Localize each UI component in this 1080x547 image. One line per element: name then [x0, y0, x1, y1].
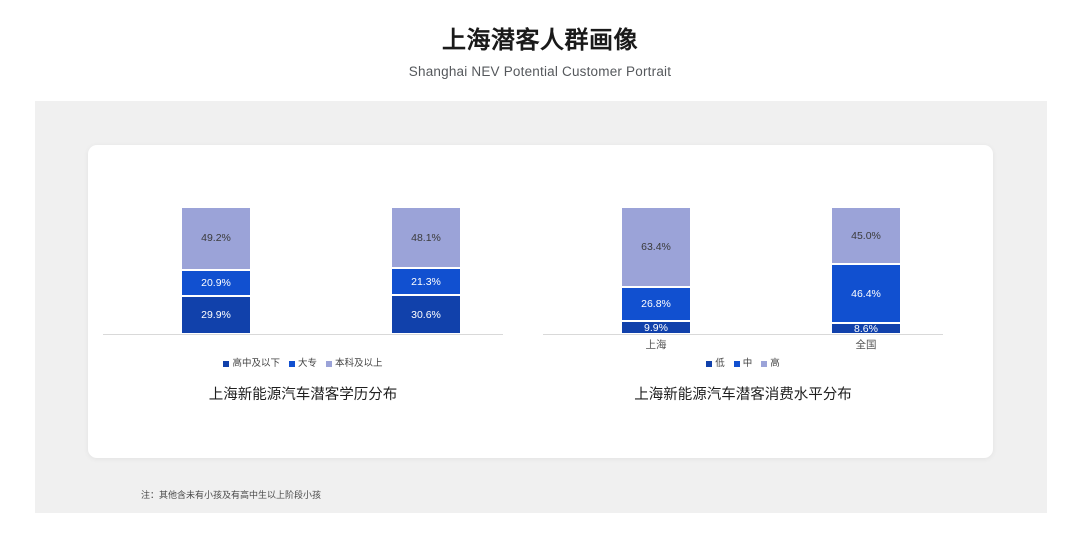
x-axis-line [543, 334, 943, 335]
bar-segment-label: 49.2% [201, 232, 231, 244]
legend-item[interactable]: 中 [734, 358, 753, 370]
chart-caption: 上海新能源汽车潜客学历分布 [103, 385, 503, 405]
legend-item[interactable]: 本科及以上 [326, 358, 383, 370]
bar-segment-label: 30.6% [411, 309, 441, 321]
legend-label: 本科及以上 [335, 358, 383, 370]
legend-label: 高 [770, 358, 780, 370]
stacked-bar[interactable]: 48.1%21.3%30.6% [391, 207, 461, 334]
bar-segment-label: 9.9% [644, 322, 668, 334]
chart-education-distribution: 49.2%20.9%29.9% 48.1%21.3%30.6% 高中及以下大专本… [103, 145, 503, 415]
page-header: 上海潜客人群画像 Shanghai NEV Potential Customer… [0, 0, 1080, 80]
chart-caption: 上海新能源汽车潜客消费水平分布 [543, 385, 943, 405]
bar-segment[interactable]: 46.4% [831, 264, 901, 323]
bar-segment-label: 8.6% [854, 323, 878, 334]
bar-segment-label: 45.0% [851, 230, 881, 242]
bar-segment[interactable]: 9.9% [621, 321, 691, 334]
legend-swatch-icon [289, 361, 295, 367]
chart-consumption-level-distribution: 63.4%26.8%9.9% 45.0%46.4%8.6% 上海 全国 低中高 … [543, 145, 943, 415]
stacked-bar[interactable]: 45.0%46.4%8.6% [831, 207, 901, 334]
bar-segment[interactable]: 63.4% [621, 207, 691, 288]
bar-segment-label: 26.8% [641, 298, 671, 310]
legend-swatch-icon [223, 361, 229, 367]
legend-label: 中 [743, 358, 753, 370]
bar-segment[interactable]: 30.6% [391, 295, 461, 334]
chart-plot-area: 49.2%20.9%29.9% 48.1%21.3%30.6% [103, 145, 503, 335]
page-title: 上海潜客人群画像 [0, 0, 1080, 56]
bar-segment[interactable]: 49.2% [181, 207, 251, 269]
legend-item[interactable]: 大专 [289, 358, 317, 370]
stacked-bar[interactable]: 63.4%26.8%9.9% [621, 207, 691, 334]
legend-swatch-icon [761, 361, 767, 367]
slide-panel: 49.2%20.9%29.9% 48.1%21.3%30.6% 高中及以下大专本… [35, 101, 1047, 513]
bar-segment[interactable]: 20.9% [181, 270, 251, 297]
legend-swatch-icon [706, 361, 712, 367]
legend-item[interactable]: 高 [761, 358, 780, 370]
chart-plot-area: 63.4%26.8%9.9% 45.0%46.4%8.6% [543, 145, 943, 335]
bar-segment-label: 29.9% [201, 309, 231, 321]
chart-legend: 低中高 [543, 358, 943, 370]
legend-label: 高中及以下 [232, 358, 280, 370]
legend-swatch-icon [734, 361, 740, 367]
x-axis-categories: 上海 全国 [543, 336, 943, 354]
bar-segment[interactable]: 8.6% [831, 323, 901, 334]
x-axis-tick-label: 上海 [621, 338, 691, 352]
legend-item[interactable]: 高中及以下 [223, 358, 280, 370]
page-subtitle: Shanghai NEV Potential Customer Portrait [0, 56, 1080, 80]
x-axis-categories [103, 336, 503, 354]
stacked-bar[interactable]: 49.2%20.9%29.9% [181, 207, 251, 334]
bar-segment[interactable]: 26.8% [621, 287, 691, 321]
legend-swatch-icon [326, 361, 332, 367]
x-axis-line [103, 334, 503, 335]
bar-segment-label: 48.1% [411, 232, 441, 244]
bar-segment[interactable]: 48.1% [391, 207, 461, 268]
bar-segment[interactable]: 45.0% [831, 207, 901, 264]
footnote: 注：其他含未有小孩及有高中生以上阶段小孩 [141, 489, 321, 501]
legend-item[interactable]: 低 [706, 358, 725, 370]
x-axis-tick-label: 全国 [831, 338, 901, 352]
bar-segment-label: 46.4% [851, 288, 881, 300]
bar-segment-label: 21.3% [411, 276, 441, 288]
bar-segment[interactable]: 21.3% [391, 268, 461, 295]
legend-label: 大专 [298, 358, 317, 370]
legend-label: 低 [715, 358, 725, 370]
content-card: 49.2%20.9%29.9% 48.1%21.3%30.6% 高中及以下大专本… [88, 145, 993, 458]
chart-legend: 高中及以下大专本科及以上 [103, 358, 503, 370]
bar-segment-label: 20.9% [201, 277, 231, 289]
charts-container: 49.2%20.9%29.9% 48.1%21.3%30.6% 高中及以下大专本… [88, 145, 993, 415]
bar-segment[interactable]: 29.9% [181, 296, 251, 334]
bar-segment-label: 63.4% [641, 241, 671, 253]
